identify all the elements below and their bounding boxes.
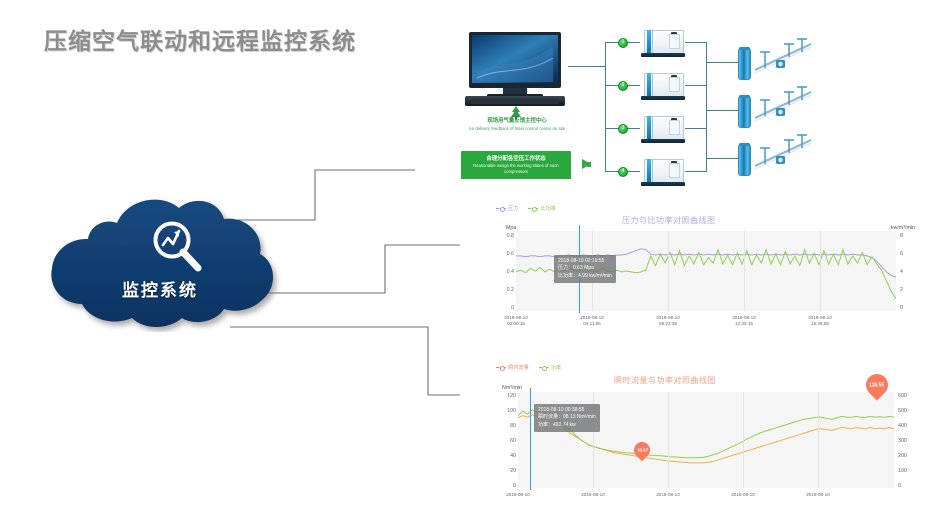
xtick-text: 2018-08-10 16:46:55 — [790, 315, 850, 327]
chart-2-ytick: 100 — [492, 408, 516, 414]
gridline — [744, 231, 745, 311]
pipe-outlet-1 — [685, 42, 707, 43]
chart-2-ytick: 0 — [492, 483, 516, 489]
pipe-to-tank-2 — [706, 110, 738, 111]
chart-1-y2tick: 0 — [900, 305, 916, 311]
pipe-to-tank-3 — [706, 158, 738, 159]
assign-status-en: Reasonable assign the working states of … — [461, 163, 571, 174]
marker-label: 33.87 — [637, 448, 648, 453]
legend-swatch — [528, 208, 538, 209]
tooltip-line-2: 功率：493.74 kw — [538, 422, 596, 430]
pressure-chart-panel[interactable]: 压力 比功率 压力与比功率对照曲线图 Mpa kw/m³/min 0.8 0.6… — [492, 203, 916, 335]
chart-1-y2tick: 4 — [900, 269, 916, 275]
gridline — [820, 231, 821, 311]
xtick-text: 2018-08-10 — [488, 492, 548, 498]
feedback-caption-en: Air delivery feedback of main control ce… — [463, 126, 571, 132]
chart-2-title: 瞬时流量与功率对照曲线图 — [614, 375, 716, 386]
xtick-text: 2018-08-10 12:35:15 — [714, 315, 774, 327]
chart-2-xtick: 2018-08-10 — [563, 492, 623, 498]
chart-2-y2tick: 100 — [898, 468, 916, 474]
pipe-to-tank-1 — [706, 62, 738, 63]
legend-item[interactable]: 功率 — [539, 364, 561, 371]
chart-2-y2tick: 300 — [898, 438, 916, 444]
legend-label: 比功率 — [540, 205, 556, 212]
chart-1-tooltip: 2018-08-10 02:19:55 压力：0.63 Mpa 比功率：4.99… — [554, 255, 616, 283]
gridline — [743, 392, 744, 488]
chart-1-xtick: 2018-08-10 12:35:15 — [714, 315, 774, 327]
xtick-text: 2018-08-10 08:23:35 — [638, 315, 698, 327]
assign-status-cn: 合理分配各空压工作状态 — [486, 156, 545, 163]
xtick-text: 2018-08-10 04:11:55 — [562, 315, 622, 327]
status-node-1[interactable]: 1 — [618, 38, 628, 48]
legend-swatch — [496, 208, 506, 209]
tooltip-line-1: 瞬时流量：98.13 Nm³/min — [538, 414, 596, 422]
chart-2-cursor — [530, 388, 531, 490]
chart-2-y2tick: 200 — [898, 453, 916, 459]
chart-2-y2tick: 500 — [898, 408, 916, 414]
legend-swatch — [539, 367, 549, 368]
chart-1-xtick: 2018-08-10 16:46:55 — [790, 315, 850, 327]
air-tank — [738, 48, 751, 80]
pipe-outlet-4 — [685, 171, 707, 172]
chart-2-xtick: 2018-08-10 — [713, 492, 773, 498]
arrow-right-icon — [582, 159, 591, 169]
chart-1-legend[interactable]: 压力 比功率 — [496, 205, 556, 212]
compressor-unit[interactable] — [641, 73, 685, 101]
chart-2-ytick: 60 — [492, 438, 516, 444]
chart-2-ytick: 120 — [492, 393, 516, 399]
chart-1-y2tick: 6 — [900, 251, 916, 257]
xtick-text: 2018-08-10 00:00:15 — [486, 315, 546, 327]
chart-1-ytick: 0.6 — [492, 251, 514, 257]
legend-item[interactable]: 瞬时流量 — [496, 364, 529, 371]
chart-1-ytick: 0.4 — [492, 269, 514, 275]
magnifier-chart-icon — [148, 218, 206, 281]
compressor-unit[interactable] — [641, 159, 685, 187]
chart-1-xtick: 2018-08-10 00:00:15 — [486, 315, 546, 327]
flow-power-chart-panel[interactable]: 瞬时流量 功率 瞬时流量与功率对照曲线图 Nm³/min 120 100 80 … — [492, 362, 916, 512]
chart-1-xtick: 2018-08-10 08:23:35 — [638, 315, 698, 327]
chart-2-y2tick: 0 — [898, 483, 916, 489]
legend-item[interactable]: 压力 — [496, 205, 518, 212]
chart-2-ylabel: Nm³/min — [502, 385, 522, 391]
chart-2-ytick: 20 — [492, 468, 516, 474]
pipe-vertical-bus — [605, 42, 606, 172]
legend-item[interactable]: 比功率 — [528, 205, 556, 212]
tooltip-line-2: 比功率：4.99 kw/m³/min — [558, 273, 612, 281]
marker-label: 118.55 — [869, 382, 884, 388]
status-node-4[interactable]: 4 — [618, 167, 628, 177]
xtick-text: 2018-08-10 — [713, 492, 773, 498]
assign-status-box: 合理分配各空压工作状态 Reasonable assign the workin… — [461, 151, 571, 179]
chart-2-xtick: 2018-08-10 — [638, 492, 698, 498]
compressor-unit[interactable] — [641, 30, 685, 58]
chart-2-ytick: 80 — [492, 423, 516, 429]
pipe-outlet-3 — [685, 128, 707, 129]
air-tank — [738, 96, 751, 128]
pipe-monitor-trunk — [568, 66, 606, 67]
tree-icon — [509, 106, 523, 125]
chart-1-y2tick: 2 — [900, 287, 916, 293]
legend-label: 功率 — [551, 364, 561, 371]
gridline — [818, 392, 819, 488]
gridline — [668, 392, 669, 488]
chart-2-xtick: 2018-08-10 — [488, 492, 548, 498]
monitor-icon — [463, 30, 568, 115]
slide-canvas: 压缩空气联动和远程监控系统 — [0, 0, 945, 529]
chart-2-legend[interactable]: 瞬时流量 功率 — [496, 364, 561, 371]
chart-1-ytick: 0 — [492, 305, 514, 311]
tooltip-line-1: 压力：0.63 Mpa — [558, 265, 612, 273]
air-tank — [738, 144, 751, 176]
monitoring-cloud[interactable]: 监控系统 — [40, 192, 290, 332]
chart-1-xtick: 2018-08-10 04:11:55 — [562, 315, 622, 327]
compressor-unit[interactable] — [641, 116, 685, 144]
chart-2-ytick: 40 — [492, 453, 516, 459]
process-diagram-panel: 现场用气量反馈主控中心 Air delivery feedback of mai… — [443, 18, 943, 203]
chart-2-y2tick: 400 — [898, 423, 916, 429]
usage-point-rig — [753, 132, 815, 181]
cloud-label: 监控系统 — [40, 276, 280, 301]
page-title: 压缩空气联动和远程监控系统 — [44, 22, 356, 56]
chart-1-ylabel: Mpa — [506, 225, 516, 231]
xtick-text: 2018-08-10 — [638, 492, 698, 498]
chart-2-tooltip: 2018-08-10 00:38:55 瞬时流量：98.13 Nm³/min 功… — [534, 404, 600, 432]
usage-point-rig — [753, 84, 815, 133]
chart-1-ytick: 0.8 — [492, 233, 514, 239]
chart-2-xtick: 2018-08-10 — [788, 492, 848, 498]
status-node-3[interactable]: 3 — [618, 124, 628, 134]
pipe-outlet-2 — [685, 85, 707, 86]
chart-1-title: 压力与比功率对照曲线图 — [622, 215, 716, 226]
legend-label: 瞬时流量 — [508, 364, 529, 371]
chart-2-y2tick: 600 — [898, 393, 916, 399]
gridline — [668, 231, 669, 311]
chart-1-y2tick: 8 — [900, 233, 916, 239]
usage-point-rig — [753, 36, 815, 85]
xtick-text: 2018-08-10 — [788, 492, 848, 498]
chart-1-ytick: 0.2 — [492, 287, 514, 293]
xtick-text: 2018-08-10 — [563, 492, 623, 498]
legend-swatch — [496, 367, 506, 368]
legend-label: 压力 — [508, 205, 518, 212]
status-node-2[interactable]: 2 — [618, 81, 628, 91]
